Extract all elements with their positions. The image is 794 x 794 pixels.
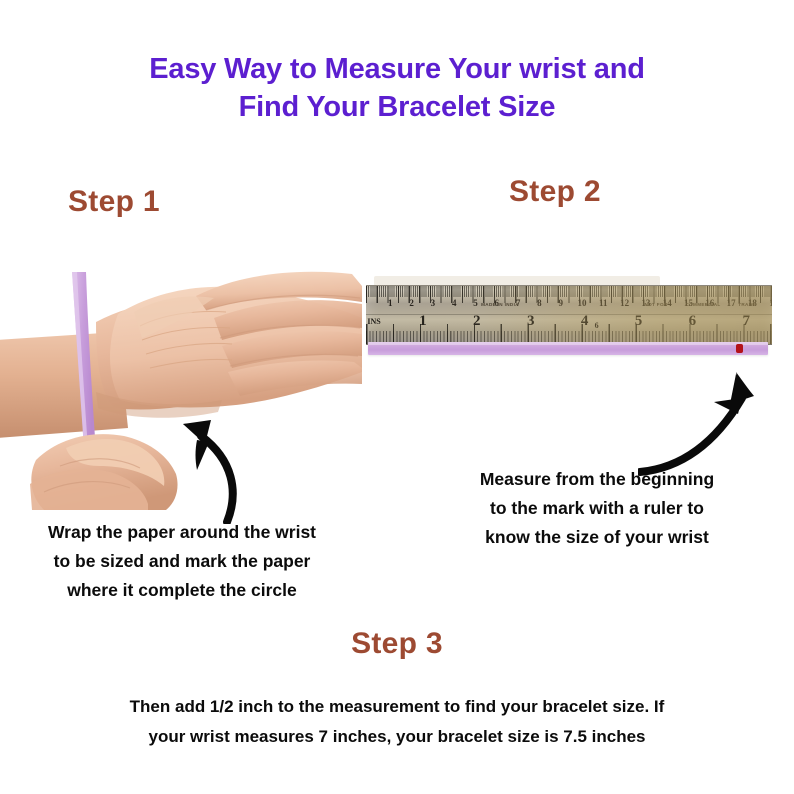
ruler-cm-label-1: 1: [388, 298, 393, 309]
ruler-photo: 12345678910111213141516171819 INS1234567…: [366, 282, 772, 362]
ruler-cm-label-17: 17: [727, 298, 736, 309]
step-1-caption-line-2: to be sized and mark the paper: [6, 547, 358, 576]
ruler-cm-label-8: 8: [537, 298, 542, 309]
ruler-body: 12345678910111213141516171819 INS1234567…: [366, 285, 772, 345]
step-3-caption: Then add 1/2 inch to the measurement to …: [47, 692, 747, 752]
ruler-cm-label-12: 12: [620, 298, 629, 309]
page-title: Easy Way to Measure Your wrist and Find …: [0, 50, 794, 126]
ruler-inch-label-3: 3: [527, 314, 535, 329]
wrist-measurement-mark: [736, 344, 743, 353]
infographic-canvas: Easy Way to Measure Your wrist and Find …: [0, 0, 794, 794]
step-2-caption: Measure from the beginning to the mark w…: [414, 465, 780, 552]
step-2-caption-line-1: Measure from the beginning: [414, 465, 780, 494]
page-title-line-1: Easy Way to Measure Your wrist and: [0, 50, 794, 88]
ruler-made-in-text: MADE IN INDIA: [481, 302, 519, 307]
step-2-caption-line-2: to the mark with a ruler to: [414, 494, 780, 523]
step-3-heading: Step 3: [0, 627, 794, 661]
ruler-sixteenth-scale-label: 6: [595, 318, 599, 333]
step-2-caption-line-3: know the size of your wrist: [414, 523, 780, 552]
step-1-caption: Wrap the paper around the wrist to be si…: [6, 518, 358, 605]
ruler-trade-text: TRADE: [738, 302, 756, 307]
curved-arrow-to-ruler-mark: [638, 368, 794, 480]
ruler-cm-label-11: 11: [599, 298, 608, 309]
ruler-commercial-text: COMMERCIAL: [685, 302, 720, 307]
ruler-inch-label-6: 6: [689, 314, 697, 329]
ruler-inch-labels: INS12345676: [366, 314, 772, 328]
ruler-inch-label-5: 5: [635, 314, 643, 329]
page-title-line-2: Find Your Bracelet Size: [0, 88, 794, 126]
step-1-caption-line-1: Wrap the paper around the wrist: [6, 518, 358, 547]
curved-arrow-to-wrist-mark: [105, 396, 315, 524]
ruler-inch-label-1: 1: [419, 314, 427, 329]
ruler-cm-label-5: 5: [473, 298, 478, 309]
ruler-cm-label-2: 2: [409, 298, 414, 309]
ruler-inch-label-7: 7: [743, 314, 751, 329]
ruler-cm-label-9: 9: [558, 298, 563, 309]
step-3-caption-line-1: Then add 1/2 inch to the measurement to …: [47, 692, 747, 722]
ruler-not-for-text: NOT FOR: [644, 302, 667, 307]
ruler-cm-label-4: 4: [452, 298, 457, 309]
ruler-inch-label-2: 2: [473, 314, 481, 329]
paper-strip-under-ruler: [368, 342, 768, 355]
ruler-inch-label-4: 4: [581, 314, 589, 329]
step-1-caption-line-3: where it complete the circle: [6, 576, 358, 605]
step-3-caption-line-2: your wrist measures 7 inches, your brace…: [47, 722, 747, 752]
ruler-cm-label-19: 19: [769, 298, 772, 309]
ruler-inch-origin-label: INS: [367, 314, 380, 329]
step-1-heading: Step 1: [68, 185, 160, 219]
step-2-heading: Step 2: [509, 175, 601, 209]
ruler-cm-label-3: 3: [431, 298, 436, 309]
ruler-cm-label-10: 10: [578, 298, 587, 309]
